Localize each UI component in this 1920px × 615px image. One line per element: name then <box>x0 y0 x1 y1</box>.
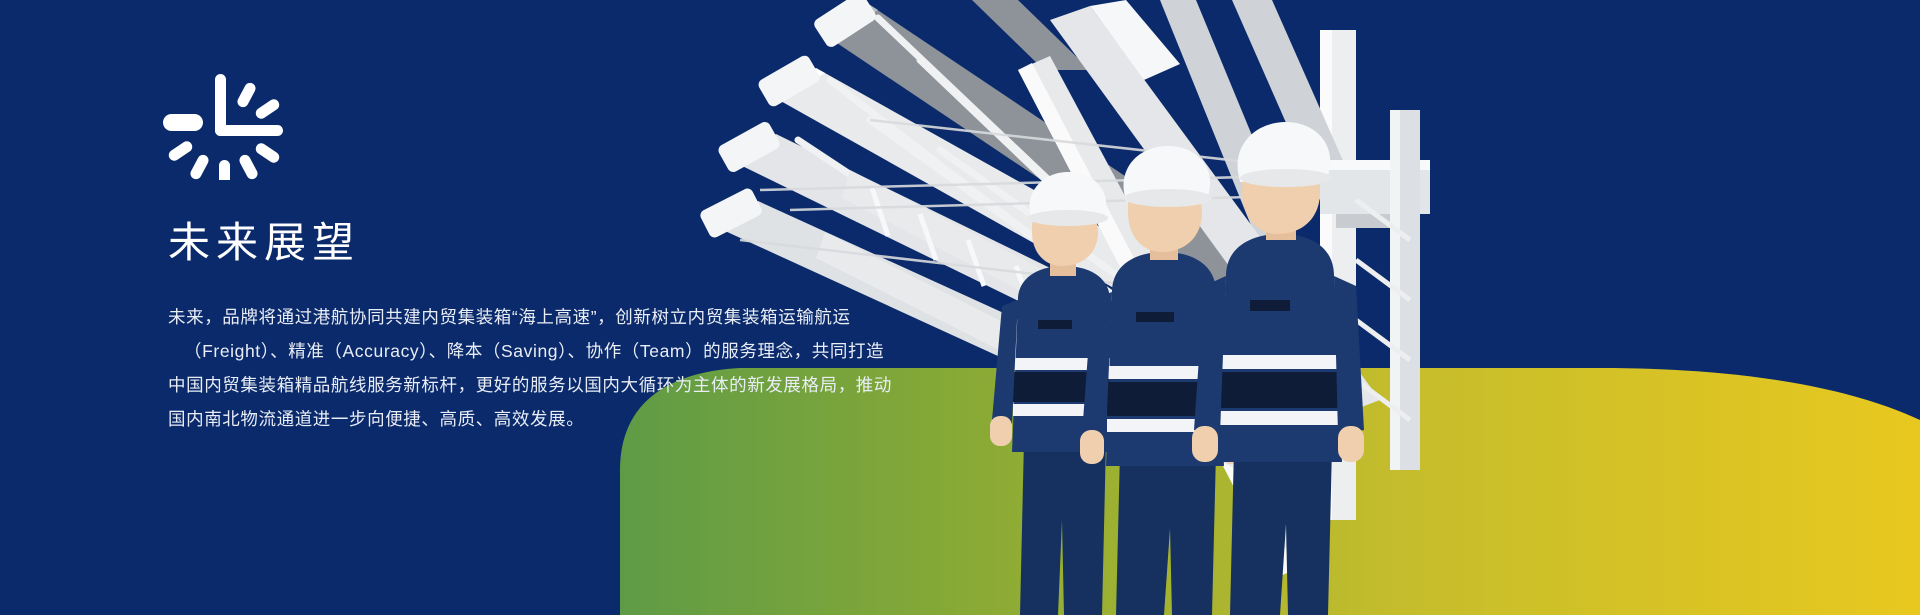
paragraph-line-2: （Freight）、精准（Accuracy）、降本（Saving）、协作（Tea… <box>168 334 998 368</box>
paragraph-line-3: 中国内贸集装箱精品航线服务新标杆，更好的服务以国内大循环为主体的新发展格局，推动 <box>168 368 998 402</box>
brand-logo <box>163 70 303 180</box>
slide-root: 未来展望 未来，品牌将通过港航协同共建内贸集装箱“海上高速”，创新树立内贸集装箱… <box>0 0 1920 615</box>
content-column: 未来展望 未来，品牌将通过港航协同共建内贸集装箱“海上高速”，创新树立内贸集装箱… <box>168 70 1068 436</box>
paragraph-line-1: 未来，品牌将通过港航协同共建内贸集装箱“海上高速”，创新树立内贸集装箱运输航运 <box>168 300 998 334</box>
brand-loading-icon <box>163 70 303 180</box>
body-paragraph: 未来，品牌将通过港航协同共建内贸集装箱“海上高速”，创新树立内贸集装箱运输航运 … <box>168 300 998 436</box>
paragraph-line-4: 国内南北物流通道进一步向便捷、高质、高效发展。 <box>168 402 998 436</box>
page-title: 未来展望 <box>168 220 1068 266</box>
